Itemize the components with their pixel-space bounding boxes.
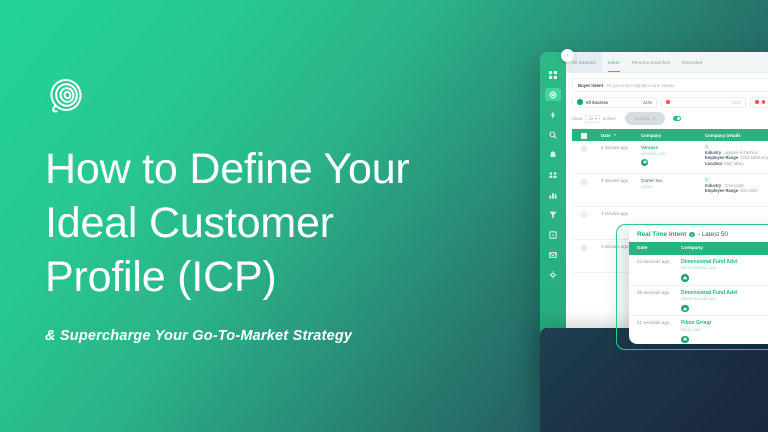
source-dot-icon (577, 99, 583, 105)
row-checkbox[interactable] (572, 211, 596, 218)
detail-label: Employee Range (705, 155, 738, 160)
banner-strong: Buyer Intent (578, 83, 603, 88)
detail-label: Employee Range (705, 188, 738, 193)
table-row[interactable]: 3 minutes ago Carter Inc. carter - ⧉ Ind… (572, 174, 768, 207)
banner-text: - All your intent signals in one stream. (603, 83, 676, 88)
checkbox-icon (581, 245, 587, 251)
table-row[interactable]: 2 minutes ago Versace versace.com ⧉ In (572, 141, 768, 174)
stat-value: 1691 (732, 100, 741, 105)
sidebar-item-audiences[interactable] (545, 168, 561, 181)
detail-value: : Chemicals (721, 183, 744, 188)
row-date: 4 minutes ago (601, 211, 638, 217)
sidebar-item-alerts[interactable] (545, 148, 561, 161)
entries-label: entries (603, 116, 616, 121)
rti-row-date: 41 seconds ago (637, 320, 675, 326)
rti-table-header: Date Company (629, 242, 768, 255)
sidebar-collapse-button[interactable]: › (561, 49, 574, 62)
app-screenshot-mockup: All Sources Intent Persona Searches Reve… (540, 52, 768, 382)
rti-column-company[interactable]: Company (675, 246, 768, 251)
sidebar-item-signals[interactable] (545, 108, 561, 121)
column-label: Date (601, 133, 611, 138)
alert-dot-icon (755, 100, 759, 104)
chevron-down-icon (595, 118, 597, 120)
detail-label: Industry (705, 183, 721, 188)
rti-row[interactable]: 41 seconds ago Fibox Group fibox.com (629, 316, 768, 344)
column-header-company-details[interactable]: Company Details (702, 133, 768, 138)
table-header-row: Date Company Company Details (572, 129, 768, 141)
sidebar-item-intent[interactable] (545, 88, 561, 101)
actions-button-label: Actions (635, 116, 651, 121)
checkbox-icon (581, 146, 587, 152)
detail-location: Location: Italy, Milan (705, 161, 768, 167)
select-all-checkbox[interactable] (572, 132, 596, 139)
verified-badge-icon (681, 305, 689, 313)
checkbox-icon (581, 179, 587, 185)
entries-select-value: 10 (588, 116, 592, 121)
detail-label: Location (705, 161, 722, 166)
row-date: 2 minutes ago (601, 145, 638, 151)
sort-caret-icon (614, 134, 616, 136)
tab-persona-searches[interactable]: Persona Searches (626, 52, 677, 72)
actions-caret: ▾ (653, 116, 655, 122)
actions-button[interactable]: Actions ▾ (625, 112, 665, 125)
row-checkbox[interactable] (572, 178, 596, 185)
rti-row[interactable]: 26 seconds ago Dimensional Fund Advi dim… (629, 286, 768, 317)
table-controls: Show 10 entries Actions ▾ (572, 112, 768, 125)
column-header-company[interactable]: Company (638, 133, 702, 138)
checkbox-icon (581, 212, 587, 218)
hero-block: How to Define Your Ideal Customer Profil… (45, 75, 475, 344)
spiral-logo (45, 75, 87, 117)
checkbox-icon (581, 133, 587, 139)
info-icon[interactable]: i (689, 232, 695, 238)
rti-row-date: 26 seconds ago (637, 290, 675, 296)
rti-column-date[interactable]: Date (629, 246, 675, 251)
row-checkbox[interactable] (572, 244, 596, 251)
alert-dot-icon (666, 100, 670, 104)
rti-row-domain[interactable]: dimensional.com (681, 265, 768, 272)
detail-value: : Apparel & Fashion (721, 150, 758, 155)
detail-value: : 1001-5000 employees (738, 155, 768, 160)
live-toggle[interactable] (673, 116, 681, 121)
row-company-domain[interactable]: versace.com (641, 151, 702, 157)
rti-row[interactable]: 24 seconds ago Dimensional Fund Advi dim… (629, 255, 768, 286)
column-header-date[interactable]: Date (596, 133, 638, 138)
verified-badge-icon (681, 274, 689, 282)
detail-label: Industry (705, 150, 721, 155)
rti-row-domain[interactable]: dimensional.com (681, 296, 768, 303)
verified-badge-icon (681, 336, 689, 344)
show-label: Show (572, 116, 582, 121)
tab-bar[interactable]: All Sources Intent Persona Searches Reve… (566, 52, 768, 73)
buyer-intent-banner: Buyer Intent - All your intent signals i… (572, 78, 768, 92)
stat-card-tertiary[interactable]: 499 (750, 97, 768, 108)
rti-row-domain[interactable]: fibox.com (681, 327, 768, 334)
page-subtitle: & Supercharge Your Go-To-Market Strategy (45, 328, 475, 344)
page-title: How to Define Your Ideal Customer Profil… (45, 143, 475, 305)
rti-title-text: Real Time Intent (637, 231, 686, 238)
detail-value: : 501-1000 (738, 188, 758, 193)
real-time-intent-card: Real Time Intent i - Latest 50 Date Comp… (629, 226, 768, 344)
sidebar-item-dashboard[interactable] (545, 68, 561, 81)
sidebar-item-integrations[interactable] (545, 228, 561, 241)
verified-badge-icon (641, 159, 648, 166)
sidebar-item-campaigns[interactable] (545, 248, 561, 261)
stat-value: 3426 (643, 100, 652, 105)
tab-intent[interactable]: Intent (602, 52, 626, 72)
row-company-domain[interactable]: carter - (641, 184, 702, 190)
sidebar-item-reports[interactable] (545, 188, 561, 201)
rti-latest-label: - Latest 50 (698, 231, 728, 238)
row-checkbox[interactable] (572, 145, 596, 152)
stat-label: All Sources (586, 100, 609, 105)
alert-dot-icon (762, 100, 766, 104)
stat-card-secondary[interactable]: 1691 (661, 97, 746, 108)
sidebar-item-settings[interactable] (545, 268, 561, 281)
sidebar-item-filters[interactable] (545, 208, 561, 221)
stat-card-all-sources[interactable]: All Sources 3426 (572, 97, 657, 108)
row-date: 3 minutes ago (601, 178, 638, 184)
tab-revealed[interactable]: Revealed (676, 52, 708, 72)
sidebar-item-search[interactable] (545, 128, 561, 141)
entries-select[interactable]: 10 (585, 115, 599, 123)
detail-employee-range: Employee Range: 501-1000 (705, 188, 768, 194)
rti-row-date: 24 seconds ago (637, 259, 675, 265)
real-time-intent-title: Real Time Intent i - Latest 50 (629, 226, 768, 242)
stat-cards-row: All Sources 3426 1691 499 (572, 97, 768, 108)
slide-canvas: How to Define Your Ideal Customer Profil… (0, 0, 768, 432)
detail-value: : Italy, Milan (722, 161, 744, 166)
